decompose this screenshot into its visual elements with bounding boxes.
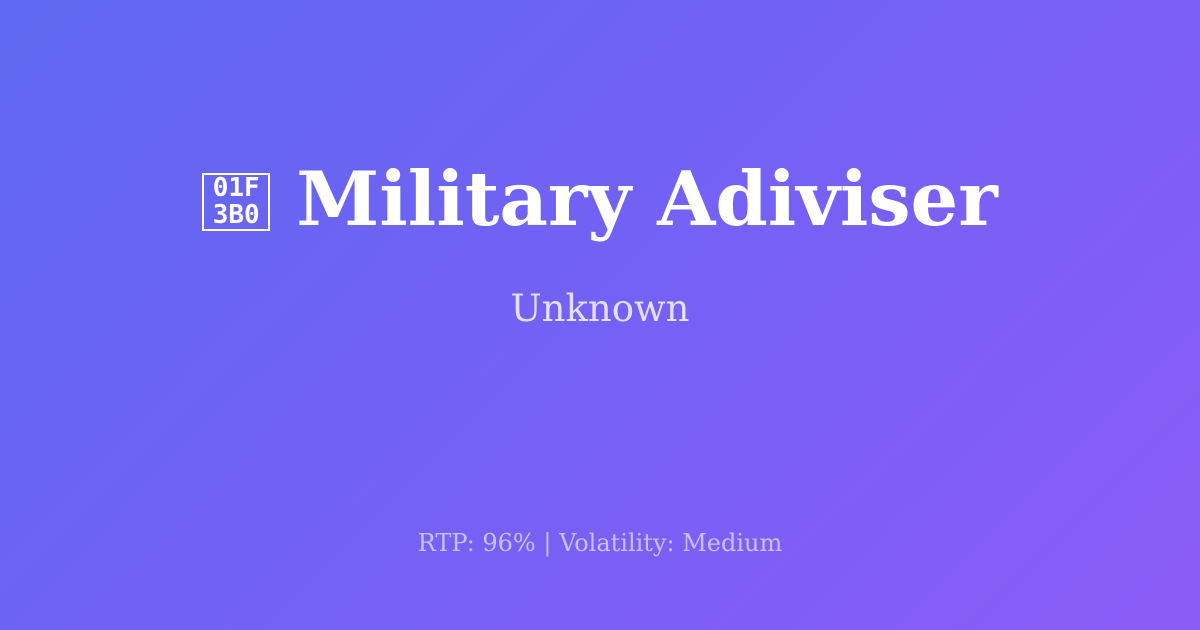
codepoint-upper: 01F	[213, 175, 260, 202]
page-title: Military Adiviser	[296, 160, 998, 239]
title-row: 01F 3B0 Military Adiviser	[40, 160, 1160, 239]
slot-machine-icon: 01F 3B0	[202, 173, 270, 231]
og-card: 01F 3B0 Military Adiviser Unknown RTP: 9…	[0, 0, 1200, 630]
game-meta-line: RTP: 96% | Volatility: Medium	[0, 528, 1200, 559]
page-subtitle: Unknown	[510, 287, 689, 331]
footer: RTP: 96% | Volatility: Medium	[0, 528, 1200, 559]
codepoint-lower: 3B0	[213, 202, 260, 229]
hero-section: 01F 3B0 Military Adiviser Unknown	[0, 0, 1200, 492]
